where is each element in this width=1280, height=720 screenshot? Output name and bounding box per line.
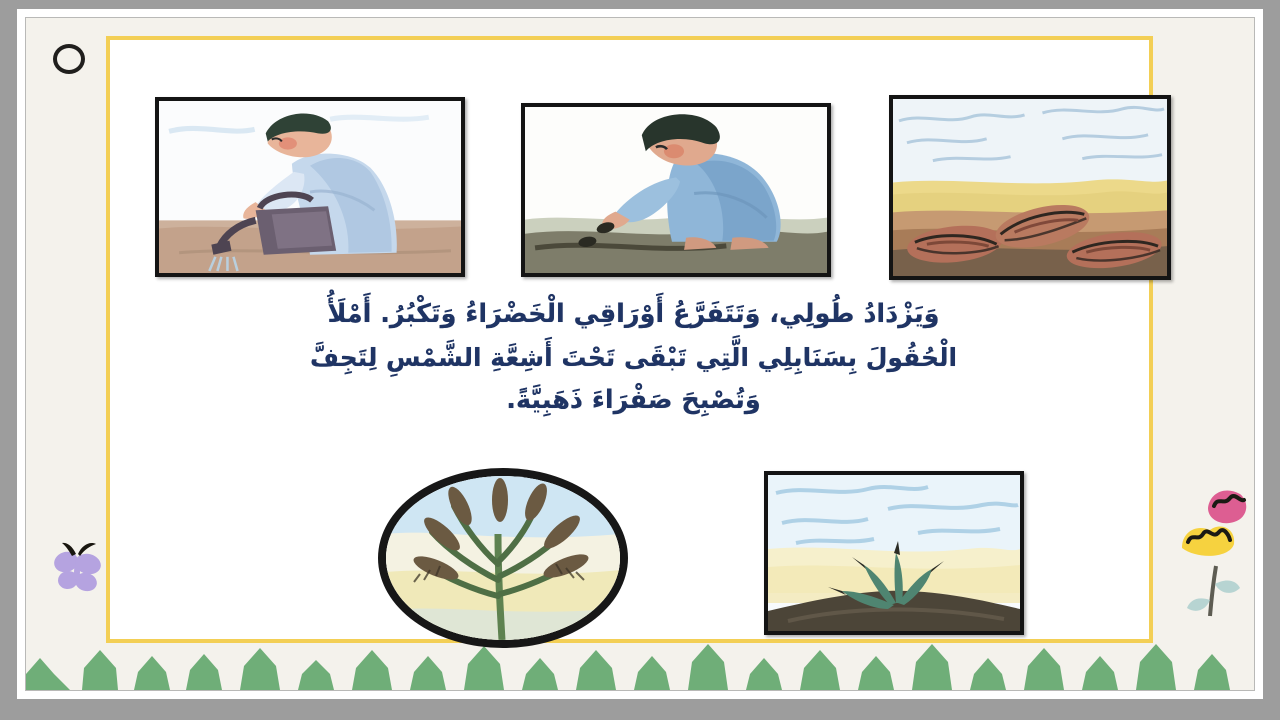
story-line-1: وَيَزْدَادُ طُولِي، وَتَتَفَرَّعُ أَوْرَ… [130,293,1137,336]
content-area: وَيَزْدَادُ طُولِي، وَتَتَفَرَّعُ أَوْرَ… [110,40,1149,639]
slide-page: وَيَزْدَادُ طُولِي، وَتَتَفَرَّعُ أَوْرَ… [25,17,1255,691]
story-line-3: وَتُصْبِحَ صَفْرَاءَ ذَهَبِيَّةً. [130,379,1137,422]
story-paragraph: وَيَزْدَادُ طُولِي، وَتَتَفَرَّعُ أَوْرَ… [130,293,1137,422]
illustration-watering [155,97,465,277]
content-frame: وَيَزْدَادُ طُولِي، وَتَتَفَرَّعُ أَوْرَ… [106,36,1153,643]
illustration-seedling [764,471,1024,635]
butterfly-icon [52,540,108,602]
slide-viewport: وَيَزْدَادُ طُولِي، وَتَتَفَرَّعُ أَوْرَ… [0,0,1280,720]
flowers-icon [1170,488,1248,638]
circle-bullet-icon [53,44,85,74]
story-line-2: الْحُقُولَ بِسَنَابِلِي الَّتِي تَبْقَى … [130,336,1137,379]
illustration-grains [889,95,1171,280]
illustration-planting [521,103,831,277]
illustration-wheat-plant [378,468,628,648]
